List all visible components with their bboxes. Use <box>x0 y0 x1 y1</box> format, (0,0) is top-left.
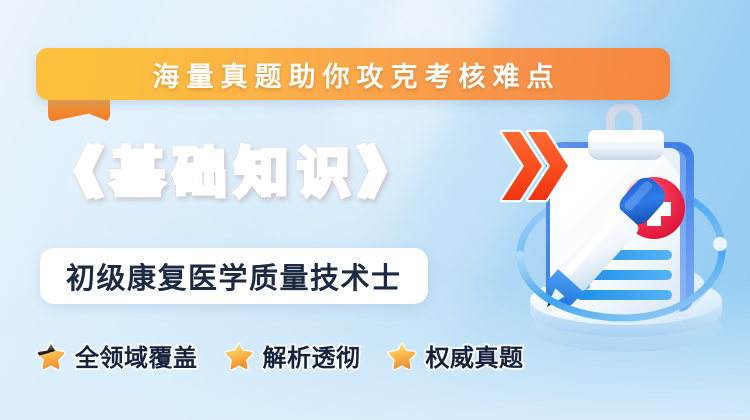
star-icon <box>36 341 66 371</box>
ribbon-body: 海量真题助你攻克考核难点 <box>36 48 670 100</box>
feature-label: 解析透彻 <box>263 338 361 373</box>
star-icon <box>224 341 254 371</box>
medical-clipboard-illustration <box>484 104 750 354</box>
ribbon-text: 海量真题助你攻克考核难点 <box>146 55 561 94</box>
ribbon-banner: 海量真题助你攻克考核难点 <box>36 48 670 100</box>
feature-item: 解析透彻 <box>224 338 361 373</box>
clipboard-clip <box>588 104 664 160</box>
promo-banner: 海量真题助你攻克考核难点 《基础知识》 初级康复医学质量技术士 全领域覆盖 <box>0 0 750 420</box>
feature-label: 全领域覆盖 <box>75 338 198 373</box>
page-title: 《基础知识》 <box>40 131 421 207</box>
subtitle-text: 初级康复医学质量技术士 <box>66 255 402 297</box>
feature-list: 全领域覆盖 解析透彻 <box>36 338 524 373</box>
star-icon <box>387 341 417 371</box>
feature-item: 全领域覆盖 <box>36 338 198 373</box>
subtitle-pill: 初级康复医学质量技术士 <box>40 248 428 304</box>
